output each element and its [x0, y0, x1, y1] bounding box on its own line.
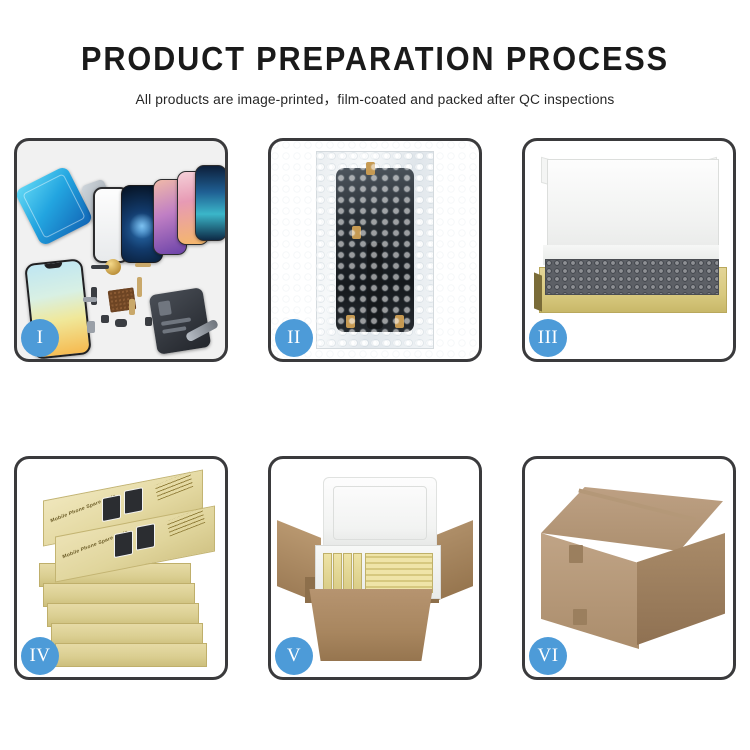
carton-left-face [541, 533, 639, 649]
process-panel-grid: I II III [14, 138, 736, 680]
part-flex-cable-1 [135, 263, 151, 267]
dark-bubble-foam-insert [545, 259, 719, 295]
carton-tape-label-bottom [573, 609, 587, 625]
display-flex-cable [367, 243, 383, 329]
adhesive-tab-2 [346, 315, 355, 328]
part-flex-cable-3 [129, 299, 135, 315]
box-art-swatch-4 [136, 523, 155, 551]
screen-assembly [336, 168, 414, 332]
packed-box-2 [333, 553, 342, 593]
box-art-swatch-3 [114, 530, 133, 558]
phone-back-housing [149, 287, 212, 355]
part-flex-cable-2 [137, 277, 142, 297]
adhesive-tab-3 [395, 315, 404, 328]
panel-badge-2: II [275, 319, 313, 357]
panel-step-5[interactable]: V [268, 456, 482, 680]
box-spec-lines-1 [155, 472, 193, 501]
part-sim-tray [87, 321, 95, 333]
box-art-swatch-2 [124, 487, 143, 515]
panel-step-4[interactable]: Mobile Phone Spare Parts Mobile Phone Sp… [14, 456, 228, 680]
panel-badge-3: III [529, 319, 567, 357]
packed-box-4 [353, 553, 362, 593]
blue-lcd-panel [17, 165, 94, 247]
carton-top-face [541, 487, 723, 551]
panel-step-1[interactable]: I [14, 138, 228, 362]
packed-box-3 [343, 553, 352, 593]
panel-badge-1: I [21, 319, 59, 357]
panel-badge-5: V [275, 637, 313, 675]
part-bracket-1 [91, 287, 97, 305]
panel-step-3[interactable]: III [522, 138, 736, 362]
part-camera-module [115, 319, 127, 327]
carton-tape-label-top [569, 545, 583, 563]
part-connector [145, 317, 152, 326]
panel-badge-6: VI [529, 637, 567, 675]
page-subtitle: All products are image-printed，film-coat… [11, 75, 739, 109]
carton-right-face [637, 533, 725, 645]
panel-step-6[interactable]: VI [522, 456, 736, 680]
packed-box-stack [365, 553, 433, 593]
teal-wave-display [195, 165, 225, 241]
page-title: PRODUCT PREPARATION PROCESS [26, 0, 724, 75]
panel-step-2[interactable]: II [268, 138, 482, 362]
packed-box-1 [323, 553, 332, 593]
page-header: PRODUCT PREPARATION PROCESS All products… [0, 0, 750, 109]
adhesive-tab-4 [366, 162, 375, 175]
carton-front-wall [301, 589, 441, 661]
styrofoam-lid [323, 477, 437, 551]
panel-badge-4: IV [21, 637, 59, 675]
adhesive-tab-1 [352, 226, 361, 239]
box-art-swatch-1 [102, 494, 121, 522]
part-speaker [91, 265, 109, 269]
stacked-box-1 [55, 643, 207, 667]
part-button [101, 315, 109, 323]
part-bracket-2 [83, 297, 97, 302]
